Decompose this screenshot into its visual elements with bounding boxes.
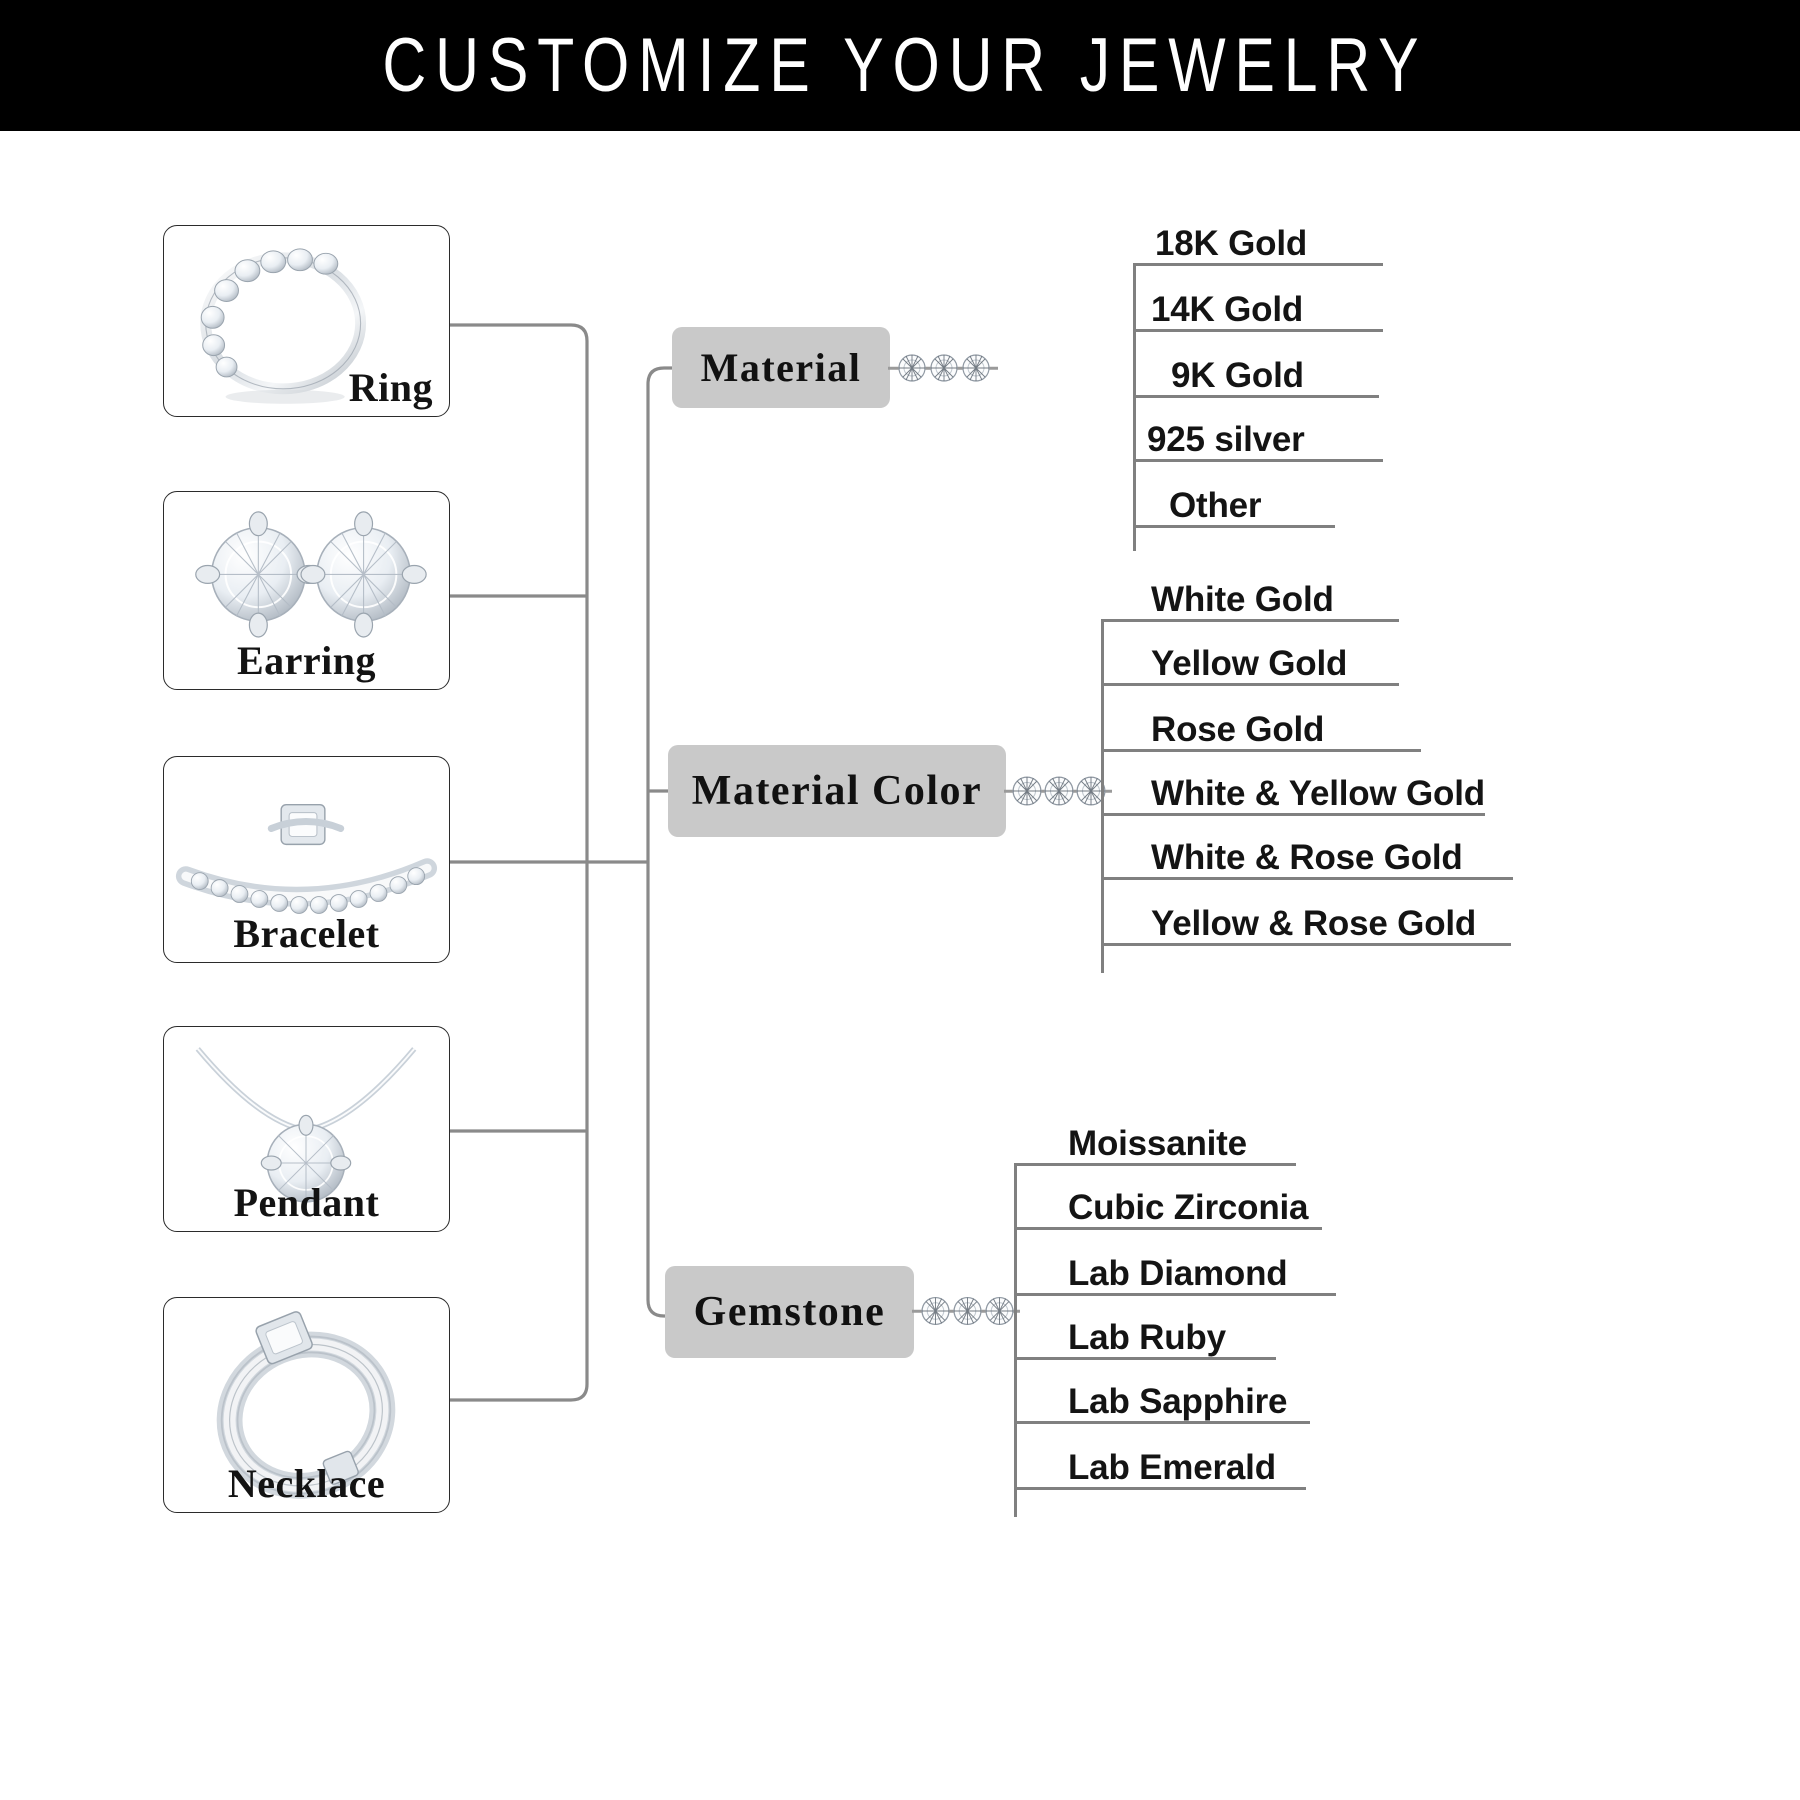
option-item[interactable]: 925 silver xyxy=(1133,398,1383,462)
jewelry-card-earring[interactable]: Earring xyxy=(163,491,450,690)
option-item[interactable]: White & Yellow Gold xyxy=(1101,752,1485,816)
option-rule xyxy=(1101,943,1511,946)
page-header: CUSTOMIZE YOUR JEWELRY xyxy=(0,0,1800,131)
option-rule xyxy=(1014,1487,1306,1490)
option-item[interactable]: Lab Diamond xyxy=(1014,1230,1336,1296)
option-item[interactable]: Lab Sapphire xyxy=(1014,1360,1310,1424)
diagram-canvas: Ring xyxy=(0,131,1800,1800)
jewelry-card-label: Earring xyxy=(237,639,376,683)
diamond-gem-icon xyxy=(952,1296,983,1327)
option-item[interactable]: Other xyxy=(1133,462,1335,528)
category-pill-gemstone[interactable]: Gemstone xyxy=(665,1266,914,1358)
option-label: 18K Gold xyxy=(1155,226,1307,261)
gem-connector-material-color xyxy=(1004,763,1112,819)
jewelry-card-pendant[interactable]: Pendant xyxy=(163,1026,450,1232)
option-label: Yellow Gold xyxy=(1151,646,1347,681)
page-title: CUSTOMIZE YOUR JEWELRY xyxy=(373,28,1428,104)
option-item[interactable]: Rose Gold xyxy=(1101,686,1421,752)
option-item[interactable]: 14K Gold xyxy=(1133,266,1383,332)
option-item[interactable]: Yellow Gold xyxy=(1101,622,1399,686)
jewelry-card-necklace[interactable]: Necklace xyxy=(163,1297,450,1513)
jewelry-card-label: Necklace xyxy=(228,1462,385,1506)
option-label: White & Yellow Gold xyxy=(1151,776,1485,811)
category-label: Material Color xyxy=(692,767,982,815)
option-item[interactable]: Yellow & Rose Gold xyxy=(1101,880,1511,946)
option-rule xyxy=(1133,525,1335,528)
option-item[interactable]: Moissanite xyxy=(1014,1119,1296,1166)
option-label: 14K Gold xyxy=(1151,292,1303,327)
diamond-gem-icon xyxy=(1043,775,1075,807)
option-label: 9K Gold xyxy=(1171,358,1304,393)
option-item[interactable]: White Gold xyxy=(1101,575,1399,622)
jewelry-card-bracelet[interactable]: Bracelet xyxy=(163,756,450,963)
option-label: Rose Gold xyxy=(1151,712,1324,747)
option-item[interactable]: Lab Emerald xyxy=(1014,1424,1306,1490)
jewelry-card-label: Pendant xyxy=(234,1181,380,1225)
option-label: Yellow & Rose Gold xyxy=(1151,906,1476,941)
option-item[interactable]: White & Rose Gold xyxy=(1101,816,1513,880)
gem-connector-material xyxy=(888,340,998,396)
option-item[interactable]: Lab Ruby xyxy=(1014,1296,1276,1360)
option-label: Lab Diamond xyxy=(1068,1256,1287,1291)
category-pill-material[interactable]: Material xyxy=(672,327,890,408)
diamond-gem-icon xyxy=(984,1296,1015,1327)
option-label: Lab Ruby xyxy=(1068,1320,1226,1355)
jewelry-card-label: Ring xyxy=(349,366,433,410)
option-label: Other xyxy=(1169,488,1261,523)
option-label: Lab Sapphire xyxy=(1068,1384,1287,1419)
diamond-gem-icon xyxy=(961,353,991,383)
diamond-gem-icon xyxy=(1011,775,1043,807)
option-label: White Gold xyxy=(1151,582,1334,617)
option-label: Moissanite xyxy=(1068,1126,1247,1161)
option-item[interactable]: 9K Gold xyxy=(1133,332,1379,398)
diamond-gem-icon xyxy=(897,353,927,383)
option-label: Cubic Zirconia xyxy=(1068,1190,1308,1225)
jewelry-card-label: Bracelet xyxy=(233,912,379,956)
jewelry-card-ring[interactable]: Ring xyxy=(163,225,450,417)
diamond-gem-icon xyxy=(929,353,959,383)
category-label: Material xyxy=(701,344,862,391)
option-item[interactable]: 18K Gold xyxy=(1133,221,1383,266)
option-item[interactable]: Cubic Zirconia xyxy=(1014,1166,1322,1230)
option-label: 925 silver xyxy=(1147,422,1305,457)
diamond-gem-icon xyxy=(920,1296,951,1327)
gem-connector-gemstone xyxy=(912,1283,1020,1339)
option-label: White & Rose Gold xyxy=(1151,840,1463,875)
category-label: Gemstone xyxy=(694,1288,886,1336)
category-pill-material-color[interactable]: Material Color xyxy=(668,745,1006,837)
option-label: Lab Emerald xyxy=(1068,1450,1276,1485)
